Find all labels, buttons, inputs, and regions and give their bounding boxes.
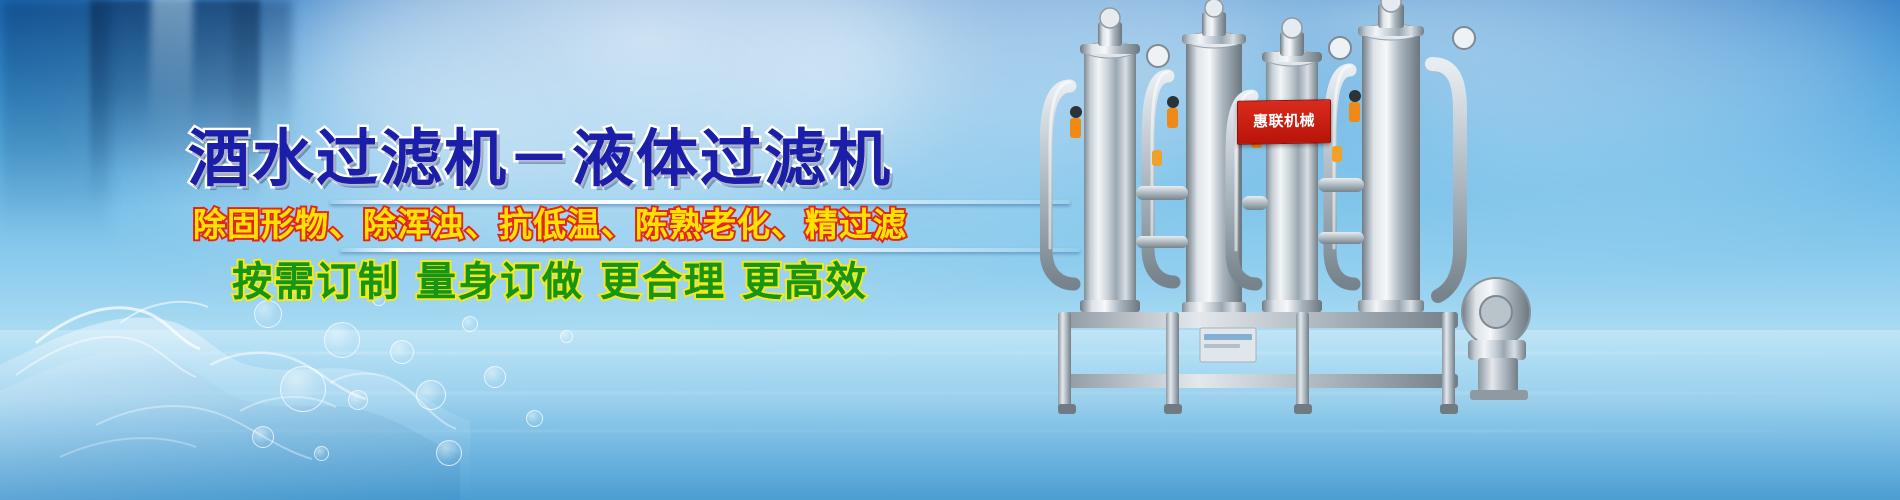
title-divider-line	[330, 200, 1070, 204]
banner-text-block: 酒水过滤机－液体过滤机 酒水过滤机－液体过滤机 除固形物、除浑浊、抗低温、陈熟老…	[0, 0, 1080, 500]
banner-title-outline: 酒水过滤机－液体过滤机	[0, 128, 1080, 190]
brand-label-text: 惠联机械	[1253, 113, 1315, 131]
banner-tagline-outline: 按需订制 量身订做 更合理 更高效	[0, 258, 1100, 306]
filter-machine-image	[1040, 0, 1560, 430]
brand-label-plate: 惠联机械	[1237, 99, 1331, 145]
banner-subtitle-outline: 除固形物、除浑浊、抗低温、陈熟老化、精过滤	[0, 205, 1100, 245]
promo-banner: 酒水过滤机－液体过滤机 酒水过滤机－液体过滤机 除固形物、除浑浊、抗低温、陈熟老…	[0, 0, 1900, 500]
subtitle-divider-line	[340, 248, 1080, 252]
